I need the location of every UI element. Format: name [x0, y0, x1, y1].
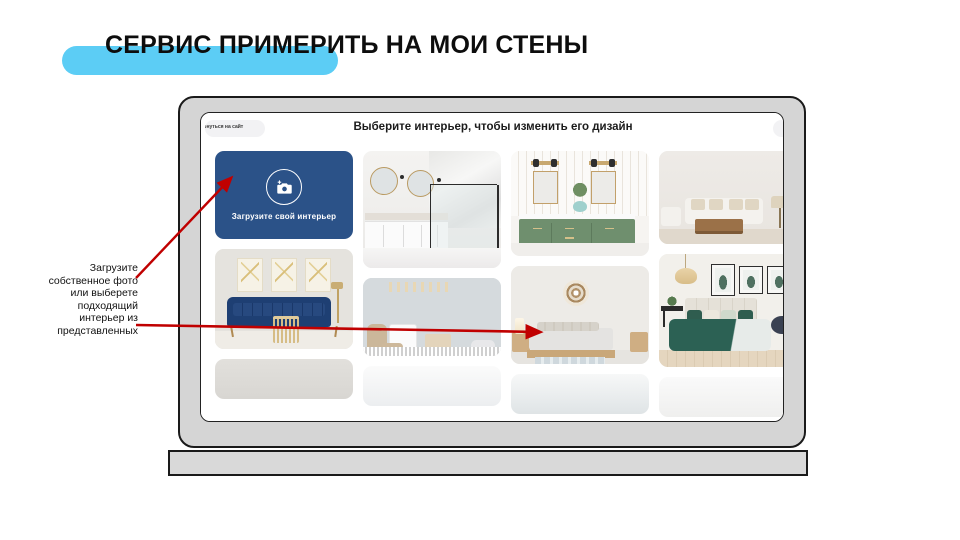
annotation-line: подходящий	[8, 300, 138, 313]
gallery-column-4	[659, 151, 784, 422]
gallery-column-2	[363, 151, 501, 422]
app-header-title: Выберите интерьер, чтобы изменить его ди…	[201, 121, 784, 133]
interior-card-cut-1[interactable]	[215, 359, 353, 399]
header-right-button[interactable]	[773, 120, 784, 137]
page-title: СЕРВИС ПРИМЕРИТЬ НА МОИ СТЕНЫ	[105, 27, 805, 63]
interior-card-nursery-room[interactable]	[363, 278, 501, 356]
annotation-line: или выберете	[8, 287, 138, 300]
upload-interior-label: Загрузите свой интерьер	[232, 212, 337, 221]
interior-card-marble-bathroom[interactable]	[363, 151, 501, 268]
camera-plus-icon	[266, 169, 302, 205]
gallery-column-3	[511, 151, 649, 422]
interior-gallery: Загрузите свой интерьер	[201, 145, 784, 422]
interior-card-beige-living-room[interactable]	[659, 151, 784, 244]
laptop-screen: Вернуться на сайт Выберите интерьер, что…	[200, 112, 784, 422]
annotation-line: представленных	[8, 325, 138, 338]
annotation-line: Загрузите	[8, 262, 138, 275]
interior-card-green-bedroom[interactable]	[659, 254, 784, 367]
app-header: Вернуться на сайт Выберите интерьер, что…	[201, 113, 784, 146]
annotation-text: Загрузите собственное фото или выберете …	[8, 262, 138, 338]
gallery-column-1: Загрузите свой интерьер	[215, 151, 353, 422]
interior-card-cut-3[interactable]	[511, 374, 649, 414]
interior-card-navy-living-room[interactable]	[215, 249, 353, 349]
laptop-base	[168, 450, 808, 476]
interior-card-cut-2[interactable]	[363, 366, 501, 406]
interior-card-cut-4[interactable]	[659, 377, 784, 417]
upload-interior-card[interactable]: Загрузите свой интерьер	[215, 151, 353, 239]
annotation-line: интерьер из	[8, 312, 138, 325]
annotation-line: собственное фото	[8, 275, 138, 288]
interior-card-scandi-bedroom[interactable]	[511, 266, 649, 364]
interior-card-green-vanity-bathroom[interactable]	[511, 151, 649, 256]
slide-canvas: СЕРВИС ПРИМЕРИТЬ НА МОИ СТЕНЫ Вернуться …	[0, 0, 960, 540]
